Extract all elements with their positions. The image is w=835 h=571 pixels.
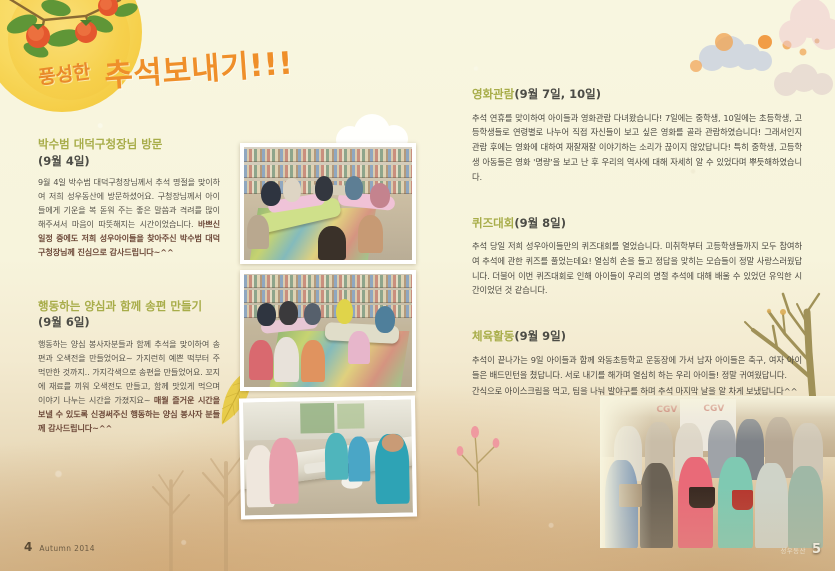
photo-songpyeon-making [240, 270, 416, 391]
article-quiz-title: 퀴즈대회 [472, 216, 514, 230]
footer-left: 4 Autumn 2014 [24, 540, 95, 554]
article-visit-body-text: 9월 4일 박수범 대덕구청장님께서 추석 명절을 맞이하여 저희 성우동산에 … [38, 177, 220, 229]
article-songpyeon-heading: 행동하는 양심과 함께 송편 만들기 (9월 6일) [38, 298, 220, 331]
article-sports-date: (9월 9일) [514, 329, 566, 343]
issue-label-left: Autumn 2014 [39, 544, 95, 553]
article-movie-date: (9월 7일, 10일) [514, 87, 601, 101]
article-sports-title: 체육활동 [472, 329, 514, 343]
article-sports-body: 추석이 끝나가는 9일 아이들과 함께 와동초등학교 운동장에 가서 남자 아이… [472, 353, 802, 383]
article-visit-body: 9월 4일 박수범 대덕구청장님께서 추석 명절을 맞이하여 저희 성우동산에 … [38, 176, 220, 259]
article-quiz: 퀴즈대회(9월 8일) 추석 당일 저희 성우아이들만의 퀴즈대회를 열었습니다… [472, 215, 802, 299]
article-visit-date: (9월 4일) [38, 154, 90, 168]
footer-right: 성우동산 5 [780, 542, 821, 557]
left-column: 박수범 대덕구청장님 방문 (9월 4일) 9월 4일 박수범 대덕구청장님께서… [38, 136, 220, 457]
article-movie-title: 영화관람 [472, 87, 514, 101]
right-column: 영화관람(9월 7일, 10일) 추석 연휴를 맞이하여 아이들과 영화관람 다… [472, 86, 802, 424]
article-sports: 체육활동(9월 9일) 추석이 끝나가는 9일 아이들과 함께 와동초등학교 운… [472, 328, 802, 399]
article-songpyeon-title: 행동하는 양심과 함께 송편 만들기 [38, 299, 202, 313]
page-number-left: 4 [24, 540, 32, 554]
photo-visit-meeting [240, 143, 416, 264]
article-quiz-heading: 퀴즈대회(9월 8일) [472, 215, 802, 232]
dot-decor-small [686, 56, 716, 76]
article-movie: 영화관람(9월 7일, 10일) 추석 연휴를 맞이하여 아이들과 영화관람 다… [472, 86, 802, 185]
article-quiz-body: 추석 당일 저희 성우아이들만의 퀴즈대회를 열었습니다. 미취학부터 고등학생… [472, 239, 802, 298]
article-songpyeon: 행동하는 양심과 함께 송편 만들기 (9월 6일) 행동하는 양심 봉사자분들… [38, 298, 220, 436]
article-songpyeon-date: (9월 6일) [38, 315, 90, 329]
blossom-decor [715, 0, 835, 80]
magazine-spread: 풍성한 추석보내기!!! 박수범 대덕구청장님 방문 (9월 4일) 9월 4일… [0, 0, 835, 571]
flower-sprig-icon [455, 420, 501, 506]
masthead: 풍성한 추석보내기!!! [0, 0, 300, 125]
article-sports-heading: 체육활동(9월 9일) [472, 328, 802, 345]
article-quiz-date: (9월 8일) [514, 216, 566, 230]
page-number-right: 5 [812, 542, 821, 557]
photo-cinema-group: CGV CGV [600, 396, 835, 548]
photo-eating-together [239, 395, 417, 519]
article-visit-heading: 박수범 대덕구청장님 방문 (9월 4일) [38, 136, 220, 169]
article-songpyeon-body: 행동하는 양심 봉사자분들과 함께 추석을 맞이하여 송편과 오색전을 만들었어… [38, 338, 220, 435]
article-movie-body: 추석 연휴를 맞이하여 아이들과 영화관람 다녀왔습니다! 7일에는 중학생, … [472, 111, 802, 185]
article-visit: 박수범 대덕구청장님 방문 (9월 4일) 9월 4일 박수범 대덕구청장님께서… [38, 136, 220, 260]
issue-label-right: 성우동산 [780, 545, 806, 555]
article-visit-title: 박수범 대덕구청장님 방문 [38, 137, 162, 151]
article-movie-heading: 영화관람(9월 7일, 10일) [472, 86, 802, 103]
